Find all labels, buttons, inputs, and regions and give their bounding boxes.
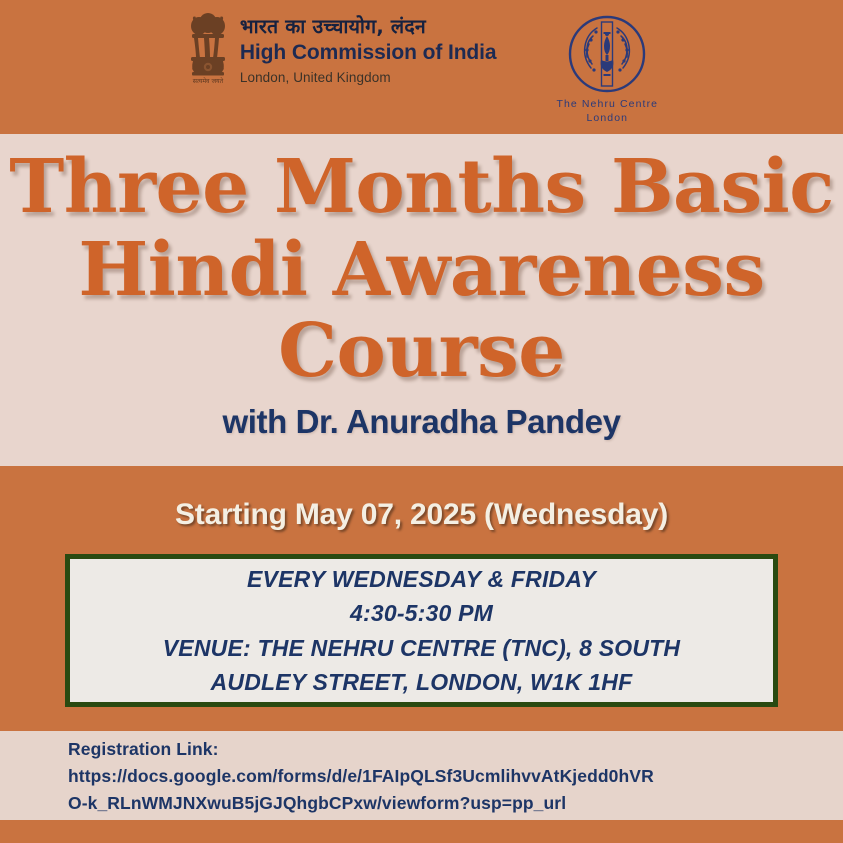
details-venue-line-1: VENUE: THE NEHRU CENTRE (TNC), 8 SOUTH bbox=[163, 631, 680, 665]
poster-root: सत्यमेव जयते भारत का उच्चायोग, लंदन High… bbox=[0, 0, 843, 843]
details-time: 4:30-5:30 PM bbox=[350, 596, 493, 630]
nehru-centre-emblem-icon bbox=[567, 14, 647, 94]
registration-url-line-1[interactable]: https://docs.google.com/forms/d/e/1FAIpQ… bbox=[68, 763, 788, 790]
details-venue-line-2: AUDLEY STREET, LONDON, W1K 1HF bbox=[211, 665, 633, 699]
registration-label: Registration Link: bbox=[68, 736, 788, 763]
title-line-3: Course bbox=[278, 310, 565, 393]
nehru-centre-logo: The Nehru Centre London bbox=[556, 10, 658, 125]
nehru-centre-name-line1: The Nehru Centre bbox=[556, 98, 658, 110]
event-details-box: EVERY WEDNESDAY & FRIDAY 4:30-5:30 PM VE… bbox=[65, 554, 778, 707]
emblem-motto-text: सत्यमेव जयते bbox=[193, 77, 224, 85]
high-commission-of-india-logo: सत्यमेव जयते भारत का उच्चायोग, लंदन High… bbox=[185, 10, 497, 88]
presenter-name: with Dr. Anuradha Pandey bbox=[222, 403, 620, 441]
hci-hindi-name: भारत का उच्चायोग, लंदन bbox=[240, 16, 497, 38]
nehru-centre-name: The Nehru Centre London bbox=[556, 97, 658, 125]
title-line-1: Three Months Basic bbox=[9, 146, 834, 229]
high-commission-text-block: भारत का उच्चायोग, लंदन High Commission o… bbox=[240, 10, 497, 85]
poster-header: सत्यमेव जयते भारत का उच्चायोग, लंदन High… bbox=[0, 0, 843, 134]
registration-url-line-2[interactable]: O-k_RLnWMJNXwuB5jGJQhgbCPxw/viewform?usp… bbox=[68, 790, 788, 817]
ashoka-pillar-emblem-icon: सत्यमेव जयते bbox=[185, 10, 231, 88]
poster-title-section: Three Months Basic Hindi Awareness Cours… bbox=[0, 134, 843, 466]
hci-english-name: High Commission of India bbox=[240, 40, 497, 65]
nehru-centre-name-line2: London bbox=[586, 112, 628, 124]
registration-section: Registration Link: https://docs.google.c… bbox=[68, 736, 788, 817]
title-line-2: Hindi Awareness bbox=[78, 229, 764, 312]
hci-location: London, United Kingdom bbox=[240, 70, 497, 85]
starting-date: Starting May 07, 2025 (Wednesday) bbox=[0, 498, 843, 532]
details-schedule-days: EVERY WEDNESDAY & FRIDAY bbox=[247, 562, 596, 596]
